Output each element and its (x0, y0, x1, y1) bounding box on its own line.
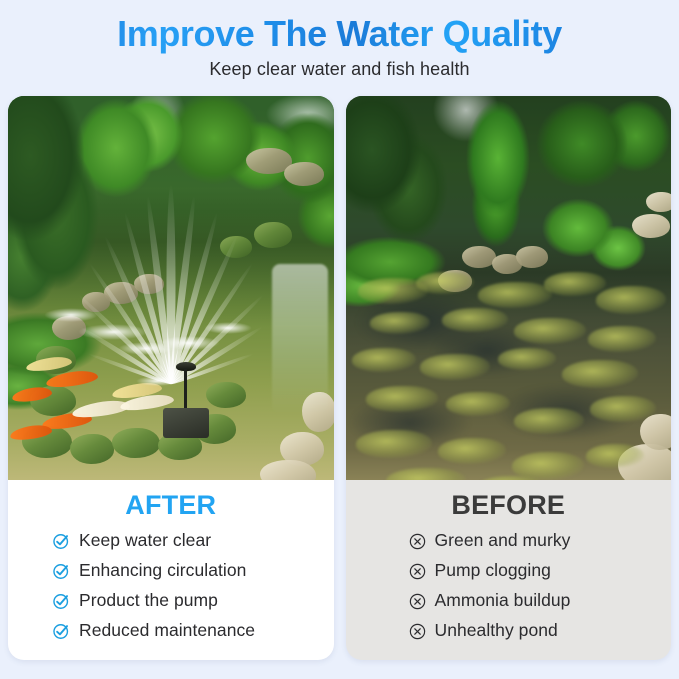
list-item: Ammonia buildup (408, 586, 672, 616)
list-item: Reduced maintenance (52, 616, 334, 646)
algae-blob (586, 444, 644, 468)
algae-blob (562, 360, 638, 388)
algae-blob (544, 272, 606, 296)
after-content: AFTER Keep water clear Enhancing circula… (8, 480, 334, 660)
before-problem-list: Green and murky Pump clogging Ammonia bu… (346, 526, 672, 646)
before-algae-layer (346, 96, 672, 480)
algae-blob (438, 438, 506, 464)
algae-blob (420, 354, 490, 380)
x-circle-icon (408, 532, 427, 551)
water-sparkle (204, 322, 252, 334)
before-pond-photo (346, 96, 672, 480)
before-heading: BEFORE (451, 490, 565, 521)
check-circle-icon (52, 532, 71, 551)
x-circle-icon (408, 592, 427, 611)
water-sparkle (78, 324, 148, 340)
list-item-label: Enhancing circulation (79, 562, 246, 580)
list-item-label: Green and murky (435, 532, 571, 550)
list-item: Product the pump (52, 586, 334, 616)
list-item-label: Ammonia buildup (435, 592, 571, 610)
x-circle-icon (408, 622, 427, 641)
algae-blob (386, 468, 466, 480)
list-item: Unhealthy pond (408, 616, 672, 646)
water-sparkle (158, 336, 220, 350)
water-sparkle (136, 376, 180, 386)
algae-blob (596, 286, 666, 314)
after-benefit-list: Keep water clear Enhancing circulation P… (8, 526, 334, 646)
before-content: BEFORE Green and murky Pump clogging (346, 480, 672, 660)
check-circle-icon (52, 562, 71, 581)
page-subtitle: Keep clear water and fish health (0, 59, 679, 80)
algae-blob (498, 348, 556, 370)
algae-blob (478, 282, 552, 308)
algae-blob (356, 430, 432, 458)
comparison-panels: AFTER Keep water clear Enhancing circula… (8, 96, 671, 660)
pond-pump (163, 408, 209, 438)
list-item-label: Pump clogging (435, 562, 551, 580)
check-circle-icon (52, 592, 71, 611)
header: Improve The Water Quality Keep clear wat… (0, 0, 679, 80)
algae-blob (588, 326, 656, 352)
x-circle-icon (408, 562, 427, 581)
after-heading: AFTER (125, 490, 216, 521)
water-sparkle (44, 308, 98, 322)
list-item-label: Product the pump (79, 592, 218, 610)
list-item-label: Unhealthy pond (435, 622, 558, 640)
list-item: Green and murky (408, 526, 672, 556)
after-pond-photo (8, 96, 334, 480)
algae-blob (590, 396, 656, 422)
page-title: Improve The Water Quality (0, 14, 679, 54)
check-circle-icon (52, 622, 71, 641)
before-panel: BEFORE Green and murky Pump clogging (346, 96, 672, 660)
list-item: Keep water clear (52, 526, 334, 556)
algae-blob (416, 272, 474, 294)
list-item: Enhancing circulation (52, 556, 334, 586)
algae-blob (352, 348, 416, 372)
list-item-label: Reduced maintenance (79, 622, 255, 640)
list-item: Pump clogging (408, 556, 672, 586)
after-panel: AFTER Keep water clear Enhancing circula… (8, 96, 334, 660)
list-item-label: Keep water clear (79, 532, 211, 550)
algae-blob (514, 318, 586, 344)
